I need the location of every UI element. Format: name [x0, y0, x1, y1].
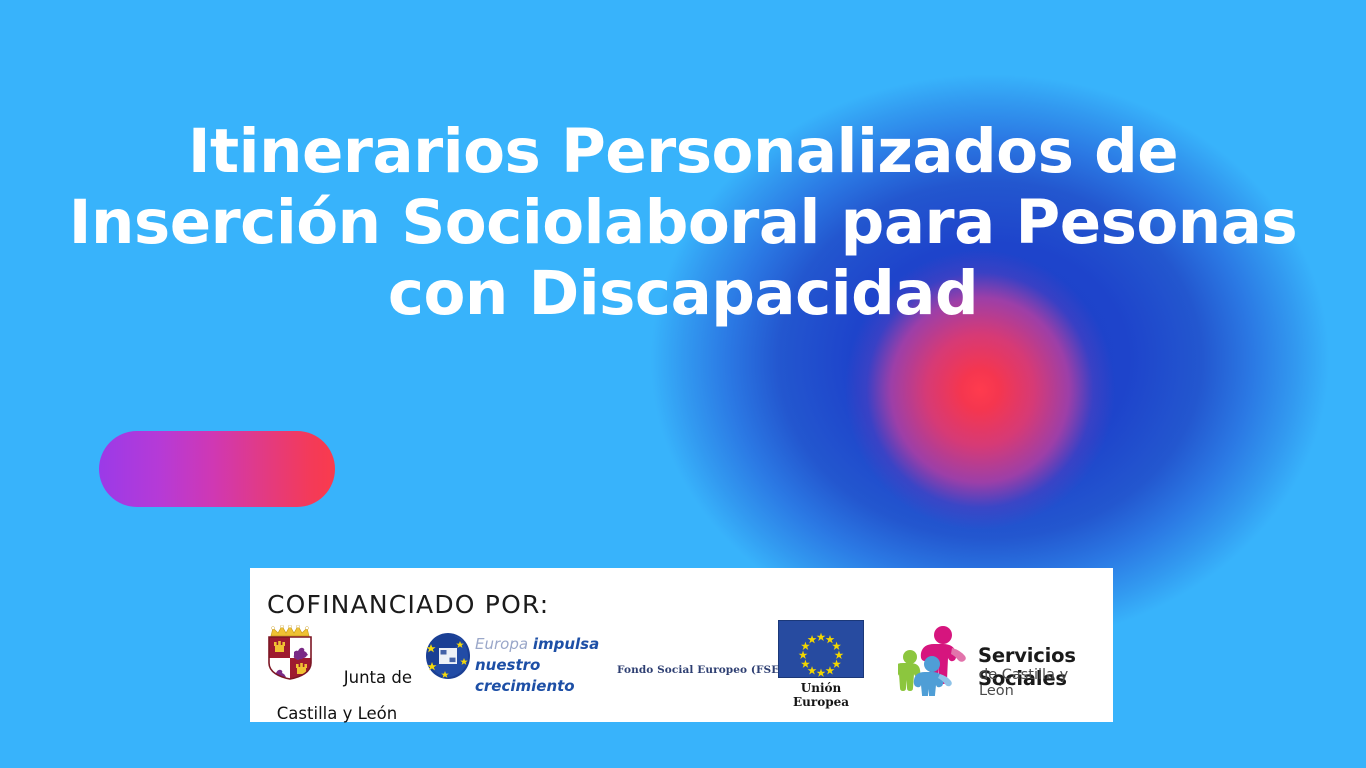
europa-word-europa: Europa [475, 635, 533, 653]
servicios-sociales-figures-icon [898, 624, 974, 696]
junta-line-2: Castilla y León [262, 705, 412, 723]
europa-logo-text: Europa impulsa nuestro crecimiento [475, 634, 615, 697]
gradient-pill-button[interactable] [99, 431, 335, 507]
logo-europa-impulsa: Europa impulsa nuestro crecimiento [425, 628, 611, 688]
europa-line-2: nuestro crecimiento [475, 655, 615, 697]
fondo-social-europeo-text: Fondo Social Europeo (FSE) [617, 664, 784, 676]
eu-flag-icon [778, 620, 864, 678]
europa-badge-icon [425, 632, 471, 680]
cofinanciado-heading: COFINANCIADO POR: [267, 590, 549, 619]
logo-row: Junta de Castilla y León [250, 620, 1113, 720]
servicios-sociales-subtitle: de Castilla y León [979, 667, 1103, 699]
funding-bar: COFINANCIADO POR: [250, 568, 1113, 722]
junta-logo-text: Junta de Castilla y León [262, 651, 412, 741]
junta-line-1: Junta de [262, 669, 412, 687]
logo-servicios-sociales: Servicios Sociales de Castilla y León [898, 622, 1103, 702]
slide-canvas: Itinerarios Personalizados de Inserción … [0, 0, 1366, 768]
europa-word-impulsa: impulsa [533, 635, 599, 653]
logo-union-europea: Unión Europea [773, 620, 869, 706]
logo-junta-castilla-y-leon: Junta de Castilla y León [262, 623, 412, 701]
union-europea-caption: Unión Europea [773, 681, 869, 709]
page-title: Itinerarios Personalizados de Inserción … [40, 116, 1326, 329]
europa-line-1: Europa impulsa [475, 634, 615, 655]
